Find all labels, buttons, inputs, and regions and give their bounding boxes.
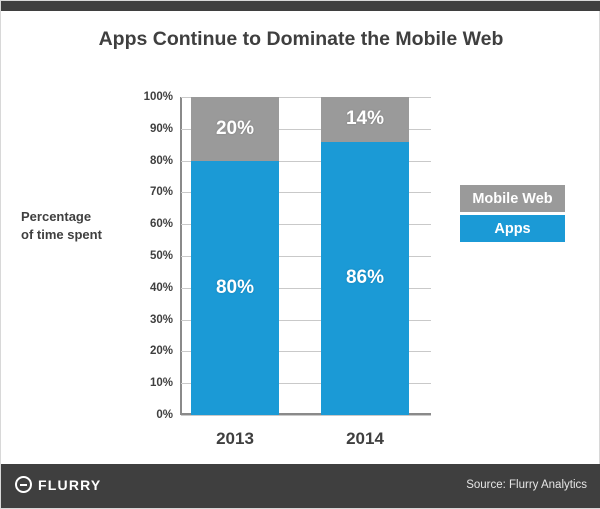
legend-item-apps[interactable]: Apps	[460, 215, 565, 242]
y-tick-label: 80%	[150, 155, 173, 167]
y-tick-label: 0%	[156, 409, 173, 421]
legend-label: Apps	[494, 221, 530, 237]
bar-value-label: 80%	[216, 277, 254, 299]
y-axis-title-line2: of time spent	[21, 226, 161, 244]
chart-page: Apps Continue to Dominate the Mobile Web…	[0, 0, 600, 509]
bar-segment-apps-2013[interactable]: 80%	[191, 161, 279, 415]
footer-bar: FLURRY Source: Flurry Analytics	[1, 464, 600, 508]
brand-wordmark: FLURRY	[38, 477, 101, 493]
y-axis-title-line1: Percentage	[21, 208, 161, 226]
bar-value-label: 14%	[346, 108, 384, 130]
top-accent-bar	[1, 1, 600, 11]
y-axis-title: Percentage of time spent	[21, 208, 161, 243]
bar-segment-apps-2014[interactable]: 86%	[321, 142, 409, 416]
gridline: 0%	[181, 415, 431, 416]
y-tick-label: 90%	[150, 123, 173, 135]
page-title: Apps Continue to Dominate the Mobile Web	[1, 28, 600, 51]
legend: Mobile Web Apps	[460, 185, 565, 245]
y-tick-label: 70%	[150, 186, 173, 198]
y-tick-label: 100%	[144, 91, 173, 103]
bar-value-label: 20%	[216, 118, 254, 140]
y-tick-label: 30%	[150, 314, 173, 326]
source-note: Source: Flurry Analytics	[466, 479, 587, 491]
legend-label: Mobile Web	[472, 191, 552, 207]
y-tick-label: 50%	[150, 250, 173, 262]
legend-item-mobile-web[interactable]: Mobile Web	[460, 185, 565, 212]
x-category-label-2013: 2013	[191, 429, 279, 449]
bar-value-label: 86%	[346, 267, 384, 289]
x-category-label-2014: 2014	[321, 429, 409, 449]
y-tick-label: 40%	[150, 282, 173, 294]
flurry-circle-icon	[15, 476, 32, 493]
brand-logo[interactable]: FLURRY	[15, 476, 101, 493]
y-tick-label: 20%	[150, 345, 173, 357]
plot-area: 100% 90% 80% 70% 60% 50% 40% 30% 20% 10%	[181, 97, 431, 415]
bar-segment-mobile-web-2014[interactable]: 14%	[321, 97, 409, 142]
bar-segment-mobile-web-2013[interactable]: 20%	[191, 97, 279, 161]
y-tick-label: 60%	[150, 218, 173, 230]
y-tick-label: 10%	[150, 377, 173, 389]
